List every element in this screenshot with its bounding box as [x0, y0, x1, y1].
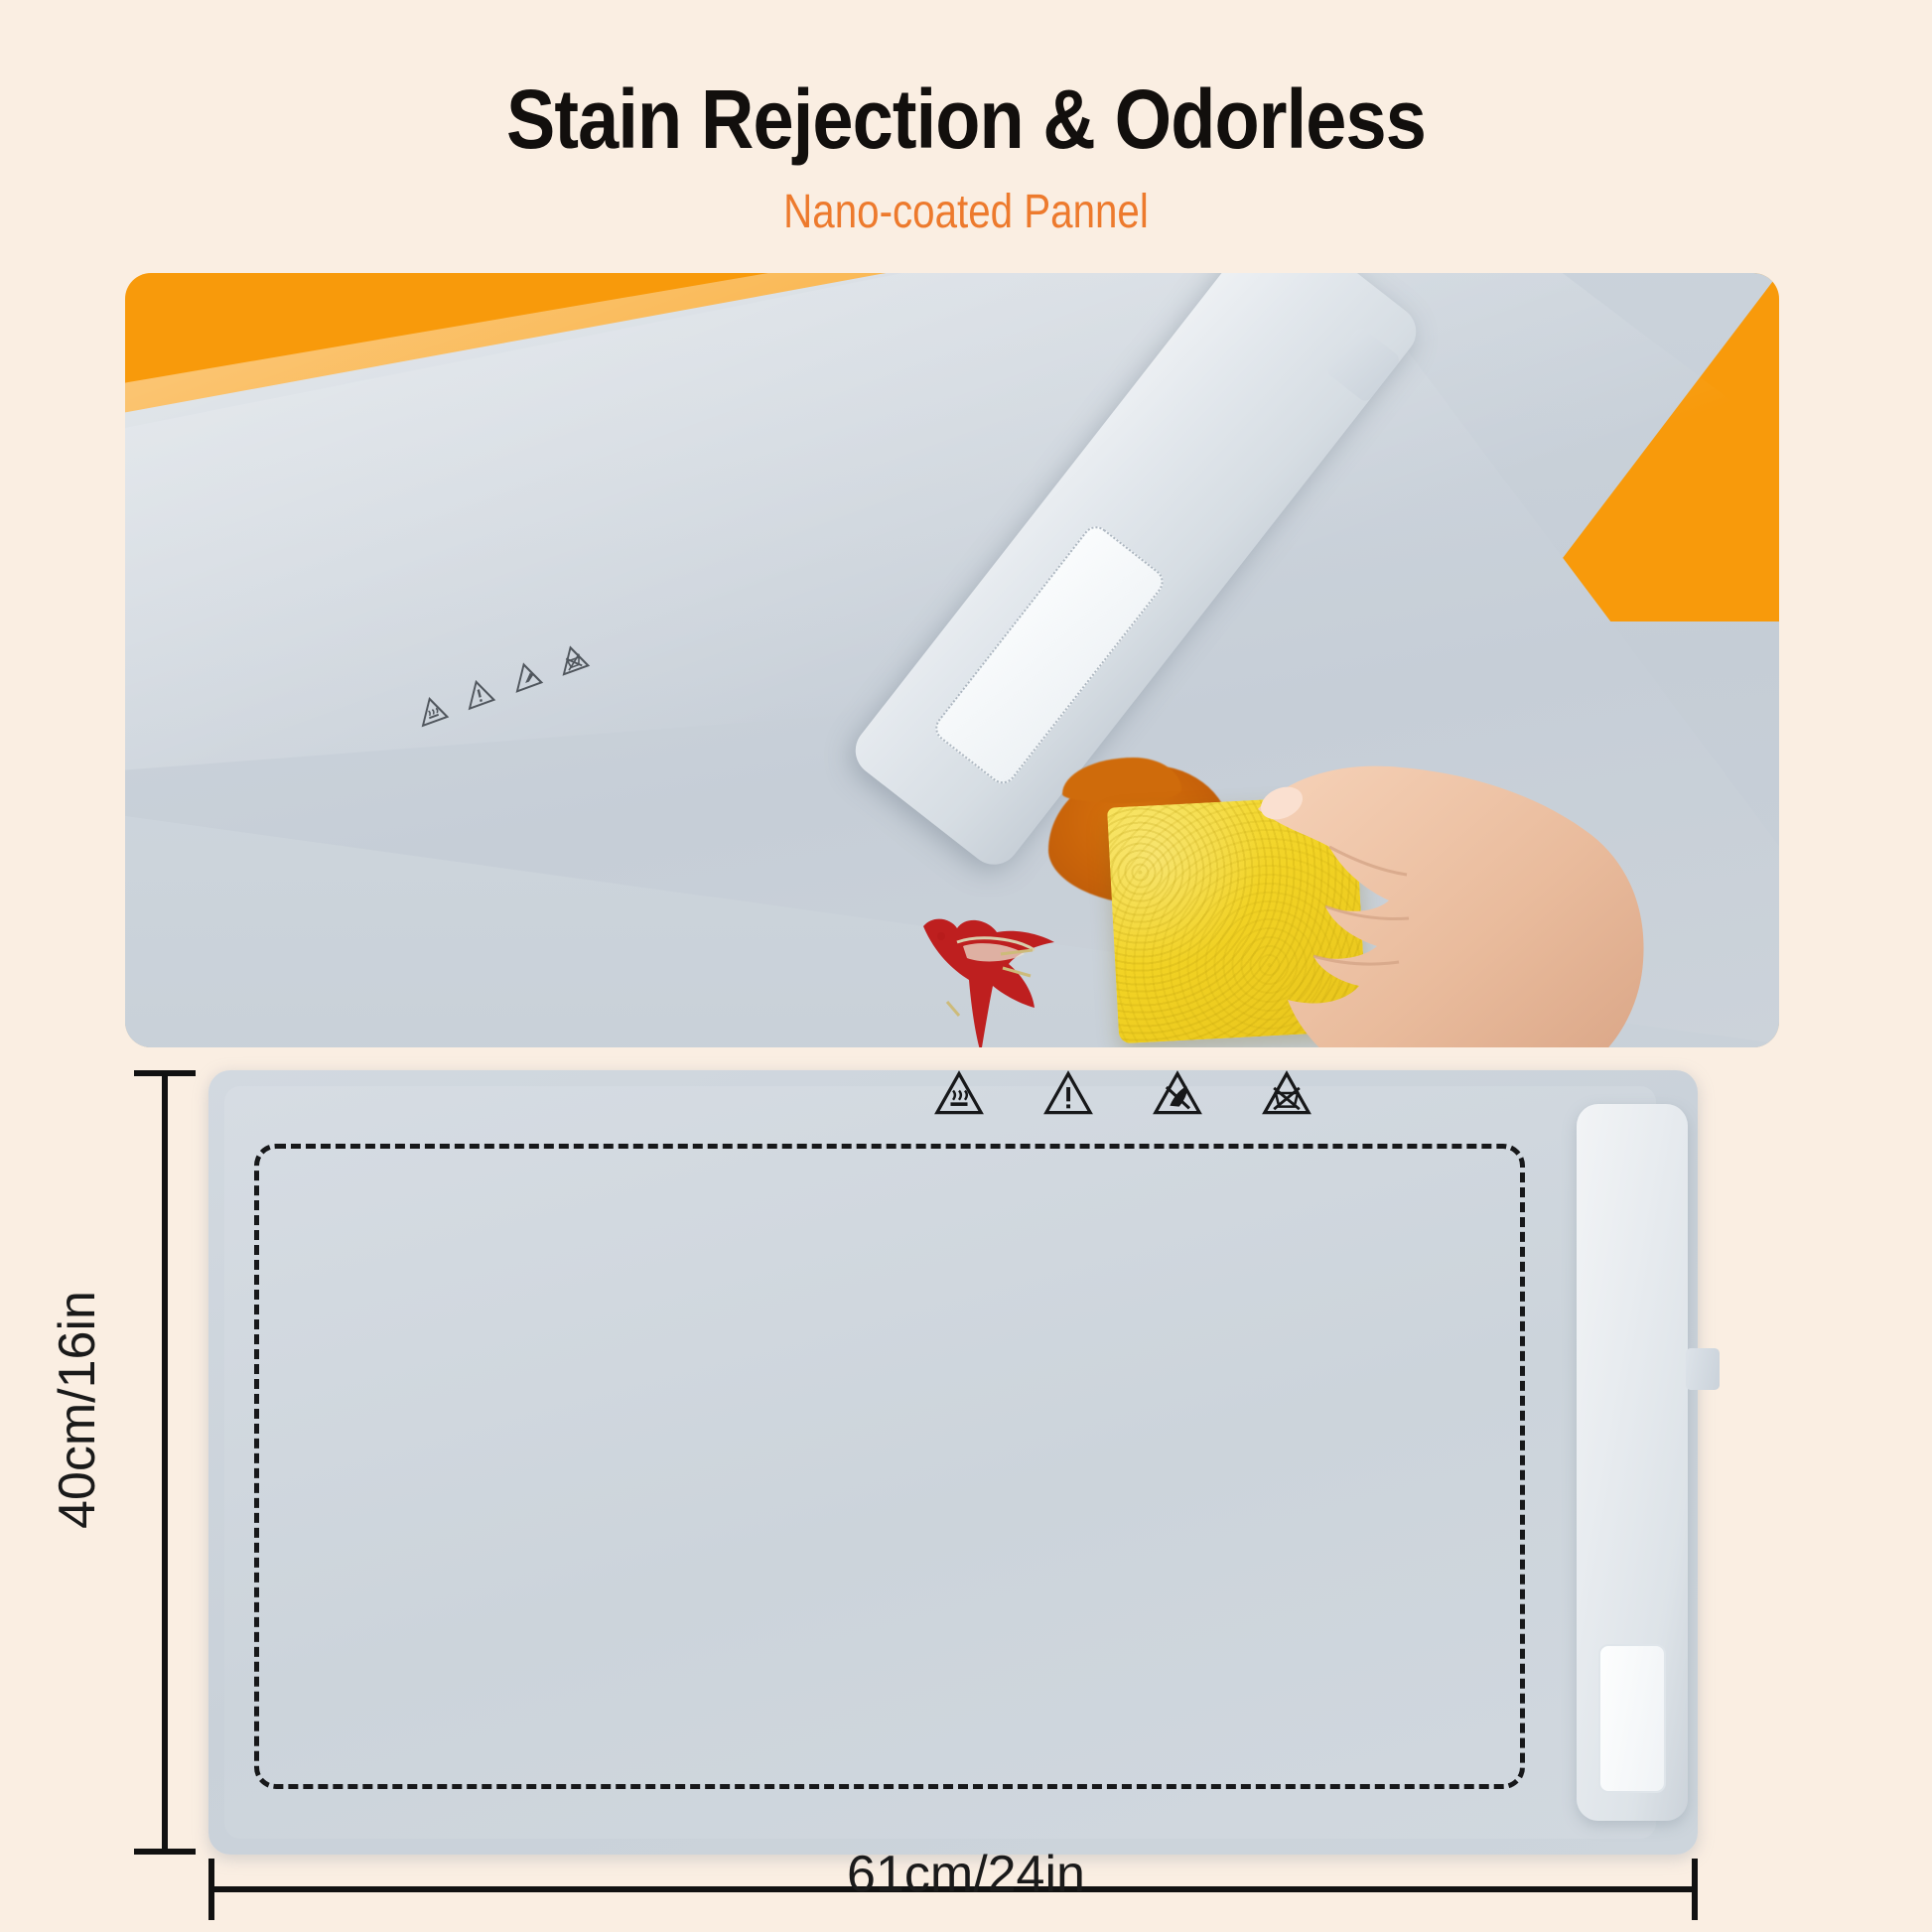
hand-shape [1222, 752, 1649, 1047]
no-wash-icon [1261, 1070, 1312, 1116]
stain-rejection-photo [125, 273, 1779, 1047]
page-subtitle: Nano-coated Pannel [155, 189, 1778, 236]
height-dimension-cap-top [134, 1070, 196, 1076]
control-bar-connector-tab [1686, 1348, 1720, 1390]
control-bar [1577, 1104, 1688, 1821]
warning-icon-row-diagram [933, 1070, 1312, 1116]
no-sharp-object-icon [1152, 1070, 1203, 1116]
height-dimension-line [162, 1070, 168, 1855]
control-panel-touch-area [1598, 1644, 1666, 1793]
hot-surface-warning-icon [933, 1070, 985, 1116]
heating-mat-body [208, 1070, 1698, 1855]
width-dimension-label: 61cm/24in [0, 1845, 1932, 1904]
product-dimension-diagram [208, 1070, 1698, 1855]
heating-zone-outline [254, 1144, 1525, 1789]
general-warning-icon [1042, 1070, 1094, 1116]
height-dimension-label: 40cm/16in [48, 1281, 107, 1539]
page-title: Stain Rejection & Odorless [116, 77, 1816, 161]
heading-block: Stain Rejection & Odorless Nano-coated P… [0, 0, 1932, 236]
hand [1222, 752, 1649, 1047]
